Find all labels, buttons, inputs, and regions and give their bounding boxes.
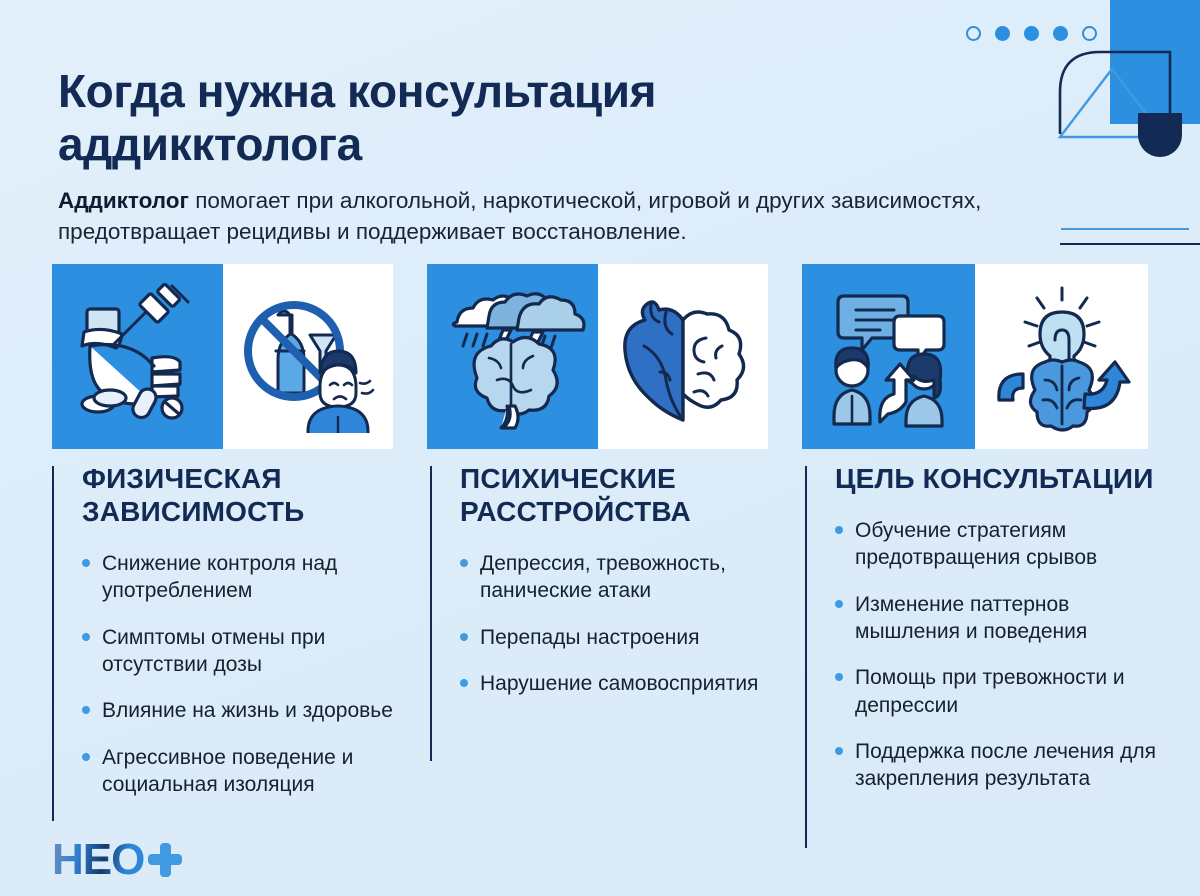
subtitle-rest: помогает при алкогольной, наркотической,…	[58, 188, 981, 245]
dot-filled-icon	[995, 26, 1010, 41]
brain-lightbulb-arrows-icon	[987, 282, 1137, 432]
column-physical-dependence: ФИЗИЧЕСКАЯ ЗАВИСИМОСТЬ Снижение контроля…	[52, 462, 397, 817]
image-tiles-row	[52, 264, 1148, 449]
list-item: Поддержка после лечения для закрепления …	[835, 738, 1165, 793]
column-divider	[430, 466, 432, 761]
tile-people-speech-arrow	[802, 264, 975, 449]
list-item: Влияние на жизнь и здоровье	[82, 697, 397, 724]
column-bullet-list: Обучение стратегиям предотвращения срыво…	[835, 517, 1165, 792]
page-subtitle: Аддиктолог помогает при алкогольной, нар…	[58, 185, 1118, 249]
tile-arm-syringe-pills	[52, 264, 223, 449]
column-divider	[52, 466, 54, 821]
plus-icon	[147, 842, 183, 878]
people-speech-bubbles-arrow-icon	[814, 282, 964, 432]
column-bullet-list: Депрессия, тревожность, панические атаки…	[460, 550, 775, 697]
list-item: Изменение паттернов мышления и поведения	[835, 591, 1165, 646]
infographic-page: Когда нужна консультация аддикктолога Ад…	[0, 0, 1200, 896]
tile-no-alcohol-sad-person	[223, 264, 394, 449]
subtitle-bold-term: Аддиктолог	[58, 188, 189, 213]
page-title: Когда нужна консультация аддикктолога	[58, 65, 958, 172]
list-item: Нарушение самовосприятия	[460, 670, 775, 697]
navy-half-circle-decoration	[1138, 113, 1182, 157]
rule-light-decoration	[1061, 228, 1189, 230]
tile-brain-lightbulb-arrows	[975, 264, 1148, 449]
brand-logo: НЕО	[52, 838, 183, 882]
list-item: Депрессия, тревожность, панические атаки	[460, 550, 775, 605]
dot-outline-icon	[966, 26, 981, 41]
list-item: Обучение стратегиям предотвращения срыво…	[835, 517, 1165, 572]
list-item: Снижение контроля над употреблением	[82, 550, 397, 605]
dot-filled-icon	[1024, 26, 1039, 41]
tile-group-physical	[52, 264, 393, 449]
arm-syringe-pills-icon	[62, 282, 212, 432]
column-consultation-goal: ЦЕЛЬ КОНСУЛЬТАЦИИ Обучение стратегиям пр…	[805, 462, 1165, 811]
column-mental-disorders: ПСИХИЧЕСКИЕ РАССТРОЙСТВА Депрессия, трев…	[430, 462, 775, 716]
column-heading: ПСИХИЧЕСКИЕ РАССТРОЙСТВА	[460, 462, 775, 528]
heart-brain-split-icon	[610, 284, 756, 430]
column-divider	[805, 466, 807, 848]
list-item: Помощь при тревожности и депрессии	[835, 664, 1165, 719]
list-item: Агрессивное поведение и социальная изоля…	[82, 744, 397, 799]
list-item: Симптомы отмены при отсутствии дозы	[82, 624, 397, 679]
no-alcohol-sad-person-icon	[232, 281, 384, 433]
brain-storm-cloud-icon	[437, 282, 587, 432]
logo-text: НЕО	[52, 838, 144, 882]
tile-brain-storm-cloud	[427, 264, 598, 449]
column-heading: ФИЗИЧЕСКАЯ ЗАВИСИМОСТЬ	[82, 462, 397, 528]
list-item: Перепады настроения	[460, 624, 775, 651]
rule-dark-decoration	[1060, 243, 1200, 245]
column-bullet-list: Снижение контроля над употреблением Симп…	[82, 550, 397, 798]
tile-group-mental	[427, 264, 768, 449]
tile-heart-brain-split	[598, 264, 769, 449]
tile-group-goal	[802, 264, 1148, 449]
column-heading: ЦЕЛЬ КОНСУЛЬТАЦИИ	[835, 462, 1165, 495]
